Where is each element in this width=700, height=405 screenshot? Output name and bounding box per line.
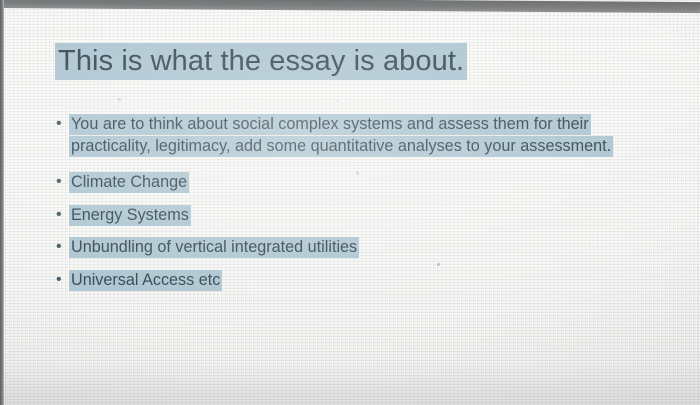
list-item-text-wrapper: Unbundling of vertical integrated utilit…	[69, 237, 668, 259]
bullet-point-icon: •	[56, 269, 69, 290]
list-item-label: Unbundling of vertical integrated utilit…	[69, 237, 359, 258]
list-item-text-wrapper: Universal Access etc	[69, 270, 668, 292]
bullet-point-icon: •	[56, 113, 69, 134]
list-item-label: Energy Systems	[69, 205, 191, 226]
list-item: • Universal Access etc	[56, 270, 668, 292]
list-item-label: You are to think about social complex sy…	[69, 114, 613, 157]
list-item: • Energy Systems	[56, 205, 668, 227]
slide-title: This is what the essay is about.	[55, 44, 467, 78]
list-item-label: Climate Change	[69, 172, 189, 193]
list-item-text-wrapper: You are to think about social complex sy…	[69, 114, 668, 157]
photographed-slide-screenshot: This is what the essay is about. • You a…	[0, 0, 700, 405]
slide-title-text: This is what the essay is about.	[55, 43, 467, 80]
slide-bullet-list: • You are to think about social complex …	[56, 114, 668, 302]
presentation-slide: This is what the essay is about. • You a…	[0, 0, 700, 405]
bullet-point-icon: •	[56, 236, 69, 257]
list-item-label: Universal Access etc	[69, 270, 222, 291]
list-item: • You are to think about social complex …	[56, 114, 668, 157]
list-item-text-wrapper: Energy Systems	[69, 205, 668, 227]
list-item: • Climate Change	[56, 172, 668, 194]
list-item-text-wrapper: Climate Change	[69, 172, 668, 194]
list-item: • Unbundling of vertical integrated util…	[56, 237, 668, 259]
bullet-point-icon: •	[56, 204, 69, 225]
bullet-point-icon: •	[56, 171, 69, 192]
